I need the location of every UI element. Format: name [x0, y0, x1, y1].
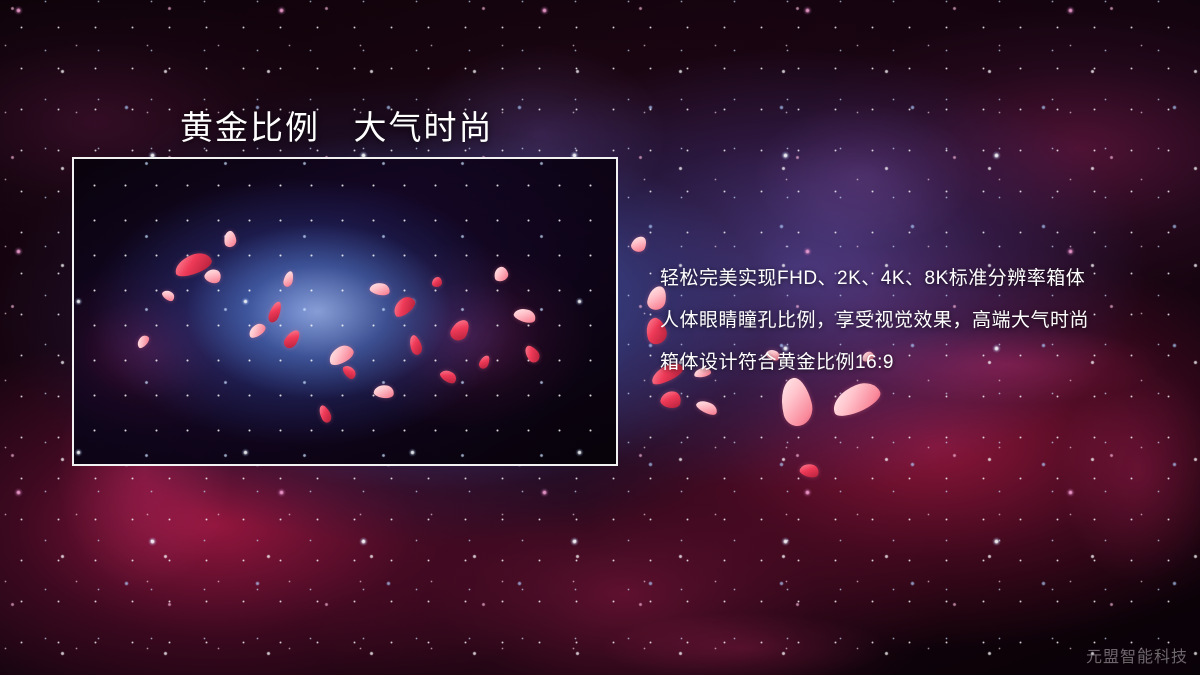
body-line-2: 人体眼睛瞳孔比例，享受视觉效果，高端大气时尚: [660, 300, 1180, 342]
petal-icon-outer-1: [659, 389, 683, 411]
watermark: 元盟智能科技: [1086, 643, 1188, 667]
petal-icon-outer-5: [828, 378, 884, 421]
page-title: 黄金比例 大气时尚: [180, 101, 494, 149]
slide-canvas: 黄金比例 大气时尚 轻松完美实现FHD、2K、4K、8K标准分辨率箱体 人体眼睛…: [0, 0, 1200, 675]
preview-frame: [72, 157, 618, 466]
petal-icon-outer-6: [798, 461, 820, 479]
preview-starfield-icon: [74, 159, 616, 464]
body-text-block: 轻松完美实现FHD、2K、4K、8K标准分辨率箱体 人体眼睛瞳孔比例，享受视觉效…: [660, 258, 1180, 384]
petal-icon-outer-11: [630, 234, 649, 254]
petal-icon-outer-3: [695, 397, 720, 417]
body-line-3: 箱体设计符合黄金比例16:9: [660, 342, 1180, 384]
body-line-1: 轻松完美实现FHD、2K、4K、8K标准分辨率箱体: [660, 258, 1180, 300]
